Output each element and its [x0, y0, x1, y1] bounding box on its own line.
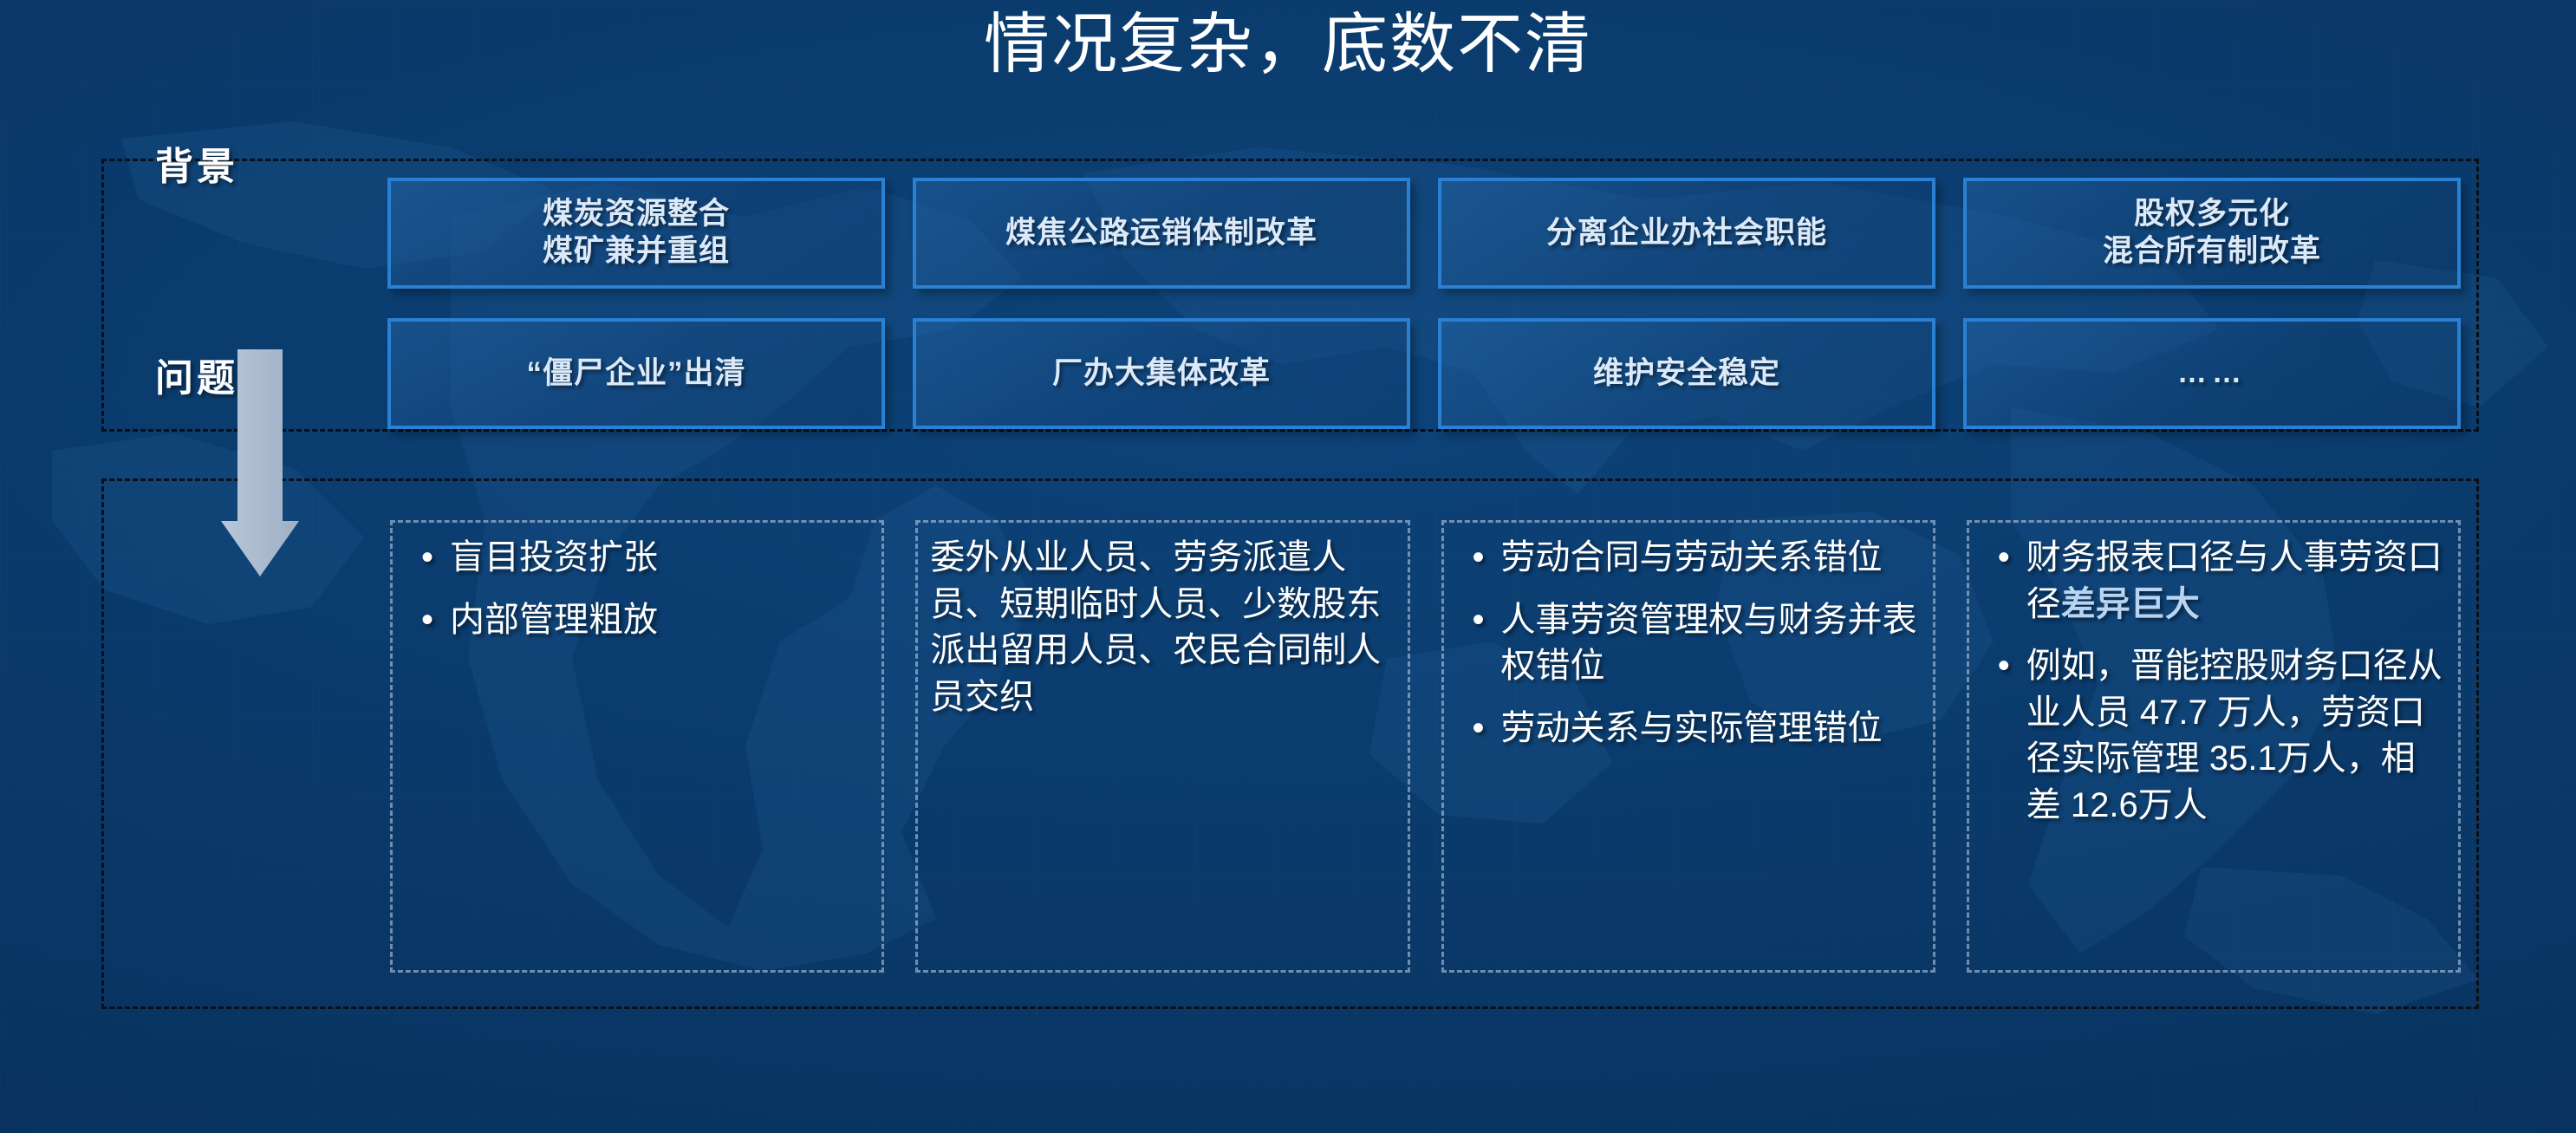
list-item: • 劳动关系与实际管理错位 [1456, 706, 1917, 752]
background-card-label: 煤炭资源整合 煤矿兼并重组 [543, 196, 730, 270]
background-card-label: 维护安全稳定 [1593, 355, 1780, 393]
bullet-glyph: • [1981, 535, 2026, 582]
list-item-text: 盲目投资扩张 [450, 535, 866, 582]
background-card-label: “僵尸企业”出清 [526, 355, 745, 393]
problem-column: • 财务报表口径与人事劳资口径差异巨大 • 例如，晋能控股财务口径从业人员 47… [1967, 520, 2461, 973]
background-card[interactable]: 厂办大集体改革 [913, 318, 1410, 429]
background-card[interactable]: “僵尸企业”出清 [387, 318, 885, 429]
problem-column-grid: • 盲目投资扩张 • 内部管理粗放 委外从业人员、劳务派遣人员、短期临时人员、少… [390, 520, 2461, 973]
bullet-glyph: • [1456, 706, 1501, 752]
bullet-glyph: • [405, 535, 450, 582]
background-card-label: 厂办大集体改革 [1052, 355, 1271, 393]
list-item: • 内部管理粗放 [405, 597, 866, 644]
list-item-text: 内部管理粗放 [450, 597, 866, 644]
background-card[interactable]: 股权多元化 混合所有制改革 [1963, 178, 2461, 289]
list-item-text: 财务报表口径与人事劳资口径差异巨大 [2026, 535, 2443, 628]
bullet-glyph: • [405, 597, 450, 644]
background-card[interactable]: …… [1963, 318, 2461, 429]
background-card-label: …… [2177, 355, 2247, 391]
list-item-text: 劳动关系与实际管理错位 [1501, 706, 1917, 752]
page-title: 情况复杂，底数不清 [0, 12, 2576, 78]
bullet-glyph: • [1456, 597, 1501, 644]
list-item-text: 例如，晋能控股财务口径从业人员 47.7 万人，劳资口径实际管理 35.1万人，… [2026, 643, 2443, 829]
bullet-glyph: • [1456, 535, 1501, 582]
list-item: 委外从业人员、劳务派遣人员、短期临时人员、少数股东派出留用人员、农民合同制人员交… [930, 535, 1391, 720]
background-card[interactable]: 煤焦公路运销体制改革 [913, 178, 1410, 289]
background-card-label: 分离企业办社会职能 [1546, 215, 1827, 252]
list-item: • 劳动合同与劳动关系错位 [1456, 535, 1917, 582]
down-arrow-icon [221, 349, 299, 576]
list-item: • 例如，晋能控股财务口径从业人员 47.7 万人，劳资口径实际管理 35.1万… [1981, 643, 2443, 829]
list-item: • 盲目投资扩张 [405, 535, 866, 582]
background-card[interactable]: 维护安全稳定 [1438, 318, 1935, 429]
list-item: • 财务报表口径与人事劳资口径差异巨大 [1981, 535, 2443, 628]
problem-column: 委外从业人员、劳务派遣人员、短期临时人员、少数股东派出留用人员、农民合同制人员交… [915, 520, 1409, 973]
list-item-highlight: 差异巨大 [2061, 585, 2200, 623]
bullet-glyph: • [1981, 643, 2026, 690]
section-label-background: 背景 [106, 135, 288, 191]
background-card[interactable]: 分离企业办社会职能 [1438, 178, 1935, 289]
list-item: • 人事劳资管理权与财务并表权错位 [1456, 597, 1917, 690]
background-card-label: 煤焦公路运销体制改革 [1005, 215, 1317, 252]
problem-column: • 盲目投资扩张 • 内部管理粗放 [390, 520, 884, 973]
background-card-grid: 煤炭资源整合 煤矿兼并重组 煤焦公路运销体制改革 分离企业办社会职能 股权多元化… [387, 178, 2461, 429]
list-item-text: 人事劳资管理权与财务并表权错位 [1501, 597, 1917, 690]
background-card-label: 股权多元化 混合所有制改革 [2103, 196, 2321, 270]
background-card[interactable]: 煤炭资源整合 煤矿兼并重组 [387, 178, 885, 289]
list-item-text: 委外从业人员、劳务派遣人员、短期临时人员、少数股东派出留用人员、农民合同制人员交… [930, 535, 1391, 720]
list-item-text: 劳动合同与劳动关系错位 [1501, 535, 1917, 582]
problem-column: • 劳动合同与劳动关系错位 • 人事劳资管理权与财务并表权错位 • 劳动关系与实… [1441, 520, 1935, 973]
